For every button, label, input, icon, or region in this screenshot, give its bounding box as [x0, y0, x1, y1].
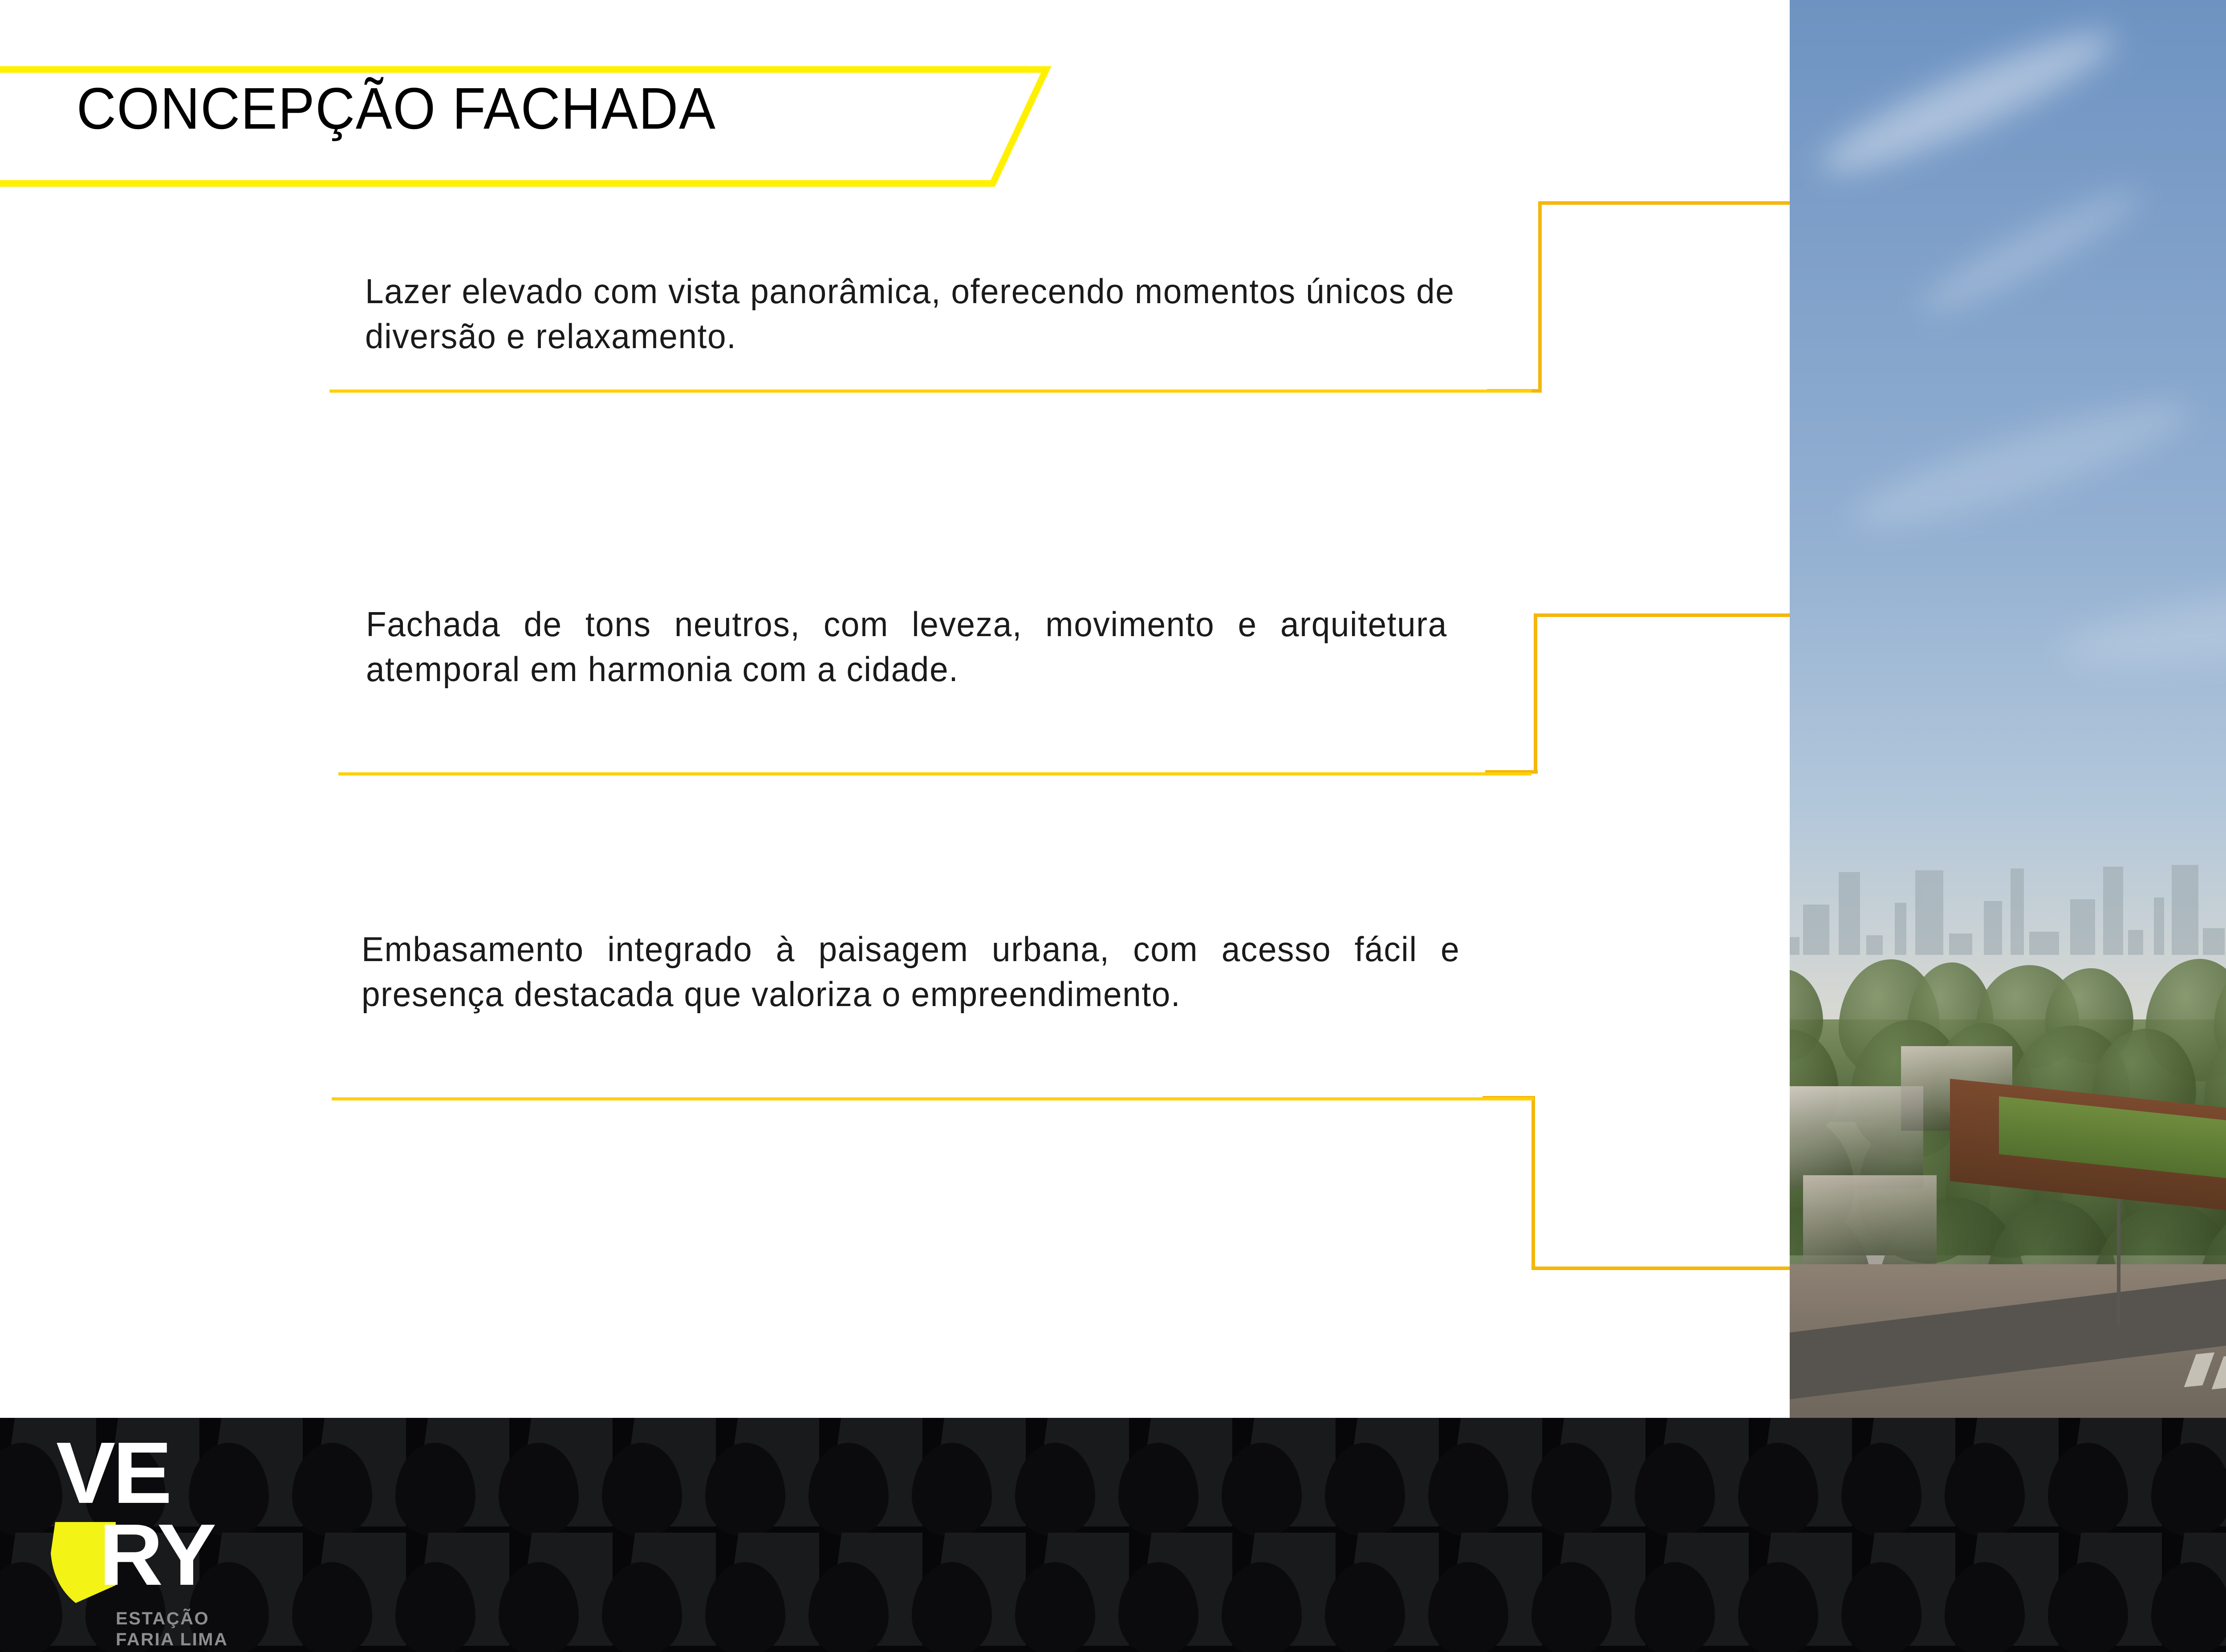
- skyline-building: [1984, 901, 2002, 955]
- logo-subtitle-line-2: FARIA LIMA: [116, 1629, 228, 1650]
- presentation-slide: CONCEPÇÃO FACHADA Lazer elevado com vist…: [0, 0, 2226, 1652]
- building-render-image: IMAGEM PRELIMINAR E SUJEITA A ALTERAÇÕES…: [1790, 0, 2226, 1418]
- footer-pattern: [0, 1418, 2226, 1652]
- skyline-building: [2128, 930, 2143, 955]
- skyline-building: [2172, 865, 2198, 955]
- footer-pattern-shape: [2151, 1562, 2226, 1652]
- callout-embasamento-underline: [332, 1097, 1534, 1100]
- callout-fachada-text: Fachada de tons neutros, com leveza, mov…: [366, 602, 1447, 692]
- skyline-building: [1790, 937, 1799, 955]
- callout-embasamento-text: Embasamento integrado à paisagem urbana,…: [362, 927, 1460, 1017]
- logo-subtitle: ESTAÇÃO FARIA LIMA: [116, 1608, 228, 1650]
- skyline-building: [2029, 932, 2059, 955]
- skyline-building: [2070, 899, 2095, 955]
- skyline-building: [1915, 870, 1943, 955]
- callout-lazer-underline: [329, 390, 1531, 393]
- callout-lazer: Lazer elevado com vista panorâmica, ofer…: [329, 258, 1540, 401]
- slide-footer: [0, 1418, 2226, 1652]
- skyline-building: [2011, 869, 2024, 955]
- page-title: CONCEPÇÃO FACHADA: [77, 75, 716, 142]
- skyline-building: [2203, 928, 2225, 955]
- callout-embasamento: Embasamento integrado à paisagem urbana,…: [329, 917, 1540, 1104]
- skyline-building: [1866, 935, 1883, 955]
- logo-text-ve: VE: [56, 1434, 169, 1512]
- very-logo: VE RY ESTAÇÃO FARIA LIMA: [46, 1431, 260, 1649]
- skyline-building: [1803, 905, 1829, 955]
- logo-subtitle-line-1: ESTAÇÃO: [116, 1608, 228, 1629]
- skyline-building: [2154, 897, 2164, 955]
- callout-fachada: Fachada de tons neutros, com leveza, mov…: [329, 592, 1540, 770]
- street-lamp-pole: [2117, 1193, 2120, 1327]
- skyline-building: [2103, 867, 2123, 955]
- skyline-building: [1949, 934, 1972, 955]
- city-skyline: [1790, 839, 2226, 955]
- logo-text-ry: RY: [99, 1516, 214, 1594]
- connector-line-3-vertical: [1531, 1096, 1535, 1270]
- skyline-building: [1895, 903, 1906, 955]
- callout-lazer-text: Lazer elevado com vista panorâmica, ofer…: [365, 269, 1459, 359]
- callout-fachada-underline: [338, 772, 1531, 775]
- footer-pattern-shape: [2151, 1443, 2226, 1536]
- skyline-building: [1839, 872, 1860, 955]
